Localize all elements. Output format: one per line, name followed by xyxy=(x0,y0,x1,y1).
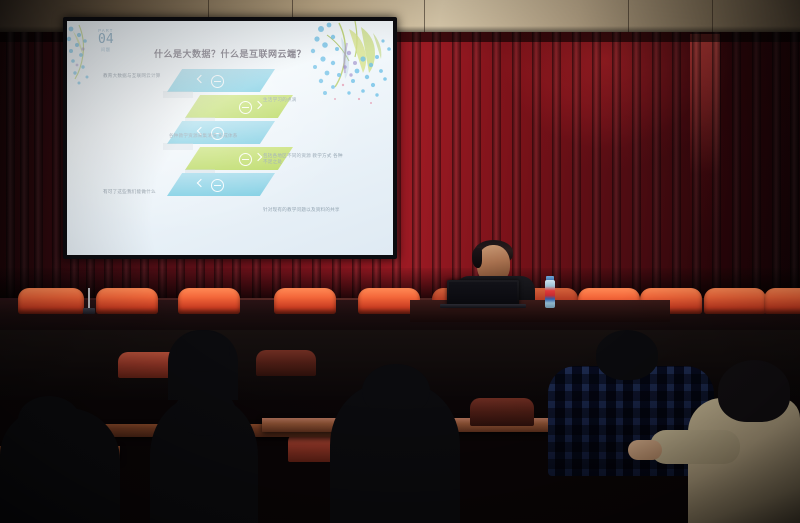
curtain-pleat xyxy=(6,32,15,300)
curtain-pleat xyxy=(412,32,421,300)
projection-screen-frame: PART 04 问题 什么是大数据？什么是互联网云端？ 教育大数据与互联网云计算… xyxy=(63,17,397,259)
water-bottle-icon xyxy=(545,280,555,308)
curtain-pleat xyxy=(672,32,681,300)
chevron-band-1 xyxy=(167,69,275,92)
curtain-pleat xyxy=(632,32,641,300)
part-number: 04 xyxy=(98,33,114,46)
curtain-pleat xyxy=(52,32,61,300)
slide-label-left-2: 各种教学资源采集清洗 形成体系 xyxy=(169,133,238,139)
curtain-pleat xyxy=(552,32,561,300)
curtain-pleat xyxy=(712,32,721,300)
curtain-pleat xyxy=(572,32,581,300)
curtain-pleat xyxy=(512,32,521,300)
curtain-pleat xyxy=(692,32,701,300)
audience-seat xyxy=(256,350,316,376)
stage-seat xyxy=(274,288,336,314)
gear-icon xyxy=(239,153,252,166)
lecture-hall-photo: PART 04 问题 什么是大数据？什么是互联网云端？ 教育大数据与互联网云计算… xyxy=(0,0,800,523)
microphone-icon xyxy=(88,288,90,310)
slide-label-left-1: 教育大数据与互联网云计算 xyxy=(103,73,161,79)
chevron-band-5 xyxy=(167,173,275,196)
audience-arm xyxy=(650,430,740,464)
curtain-pleat xyxy=(20,32,29,300)
curtain-pleat xyxy=(732,32,741,300)
slide-label-right-3: 针对现有的教学问题以及资料的共享 xyxy=(263,207,340,213)
curtain-pleat xyxy=(452,32,461,300)
chevron-right-icon xyxy=(255,101,260,111)
slide-label-right-2: 包括各地区不同的资源 教学方式 各种不足之处 xyxy=(263,153,347,166)
monitor-icon xyxy=(239,101,252,114)
cloud-icon xyxy=(211,75,224,88)
chevron-left-icon xyxy=(197,179,202,189)
audience-head xyxy=(18,396,80,444)
projection-screen: PART 04 问题 什么是大数据？什么是互联网云端？ 教育大数据与互联网云计算… xyxy=(67,21,393,255)
audience-head xyxy=(362,364,430,418)
stage-seat xyxy=(764,288,800,314)
audience-head xyxy=(176,330,230,372)
audience-head xyxy=(596,330,658,380)
curtain-pleat xyxy=(652,32,661,300)
microphone-base xyxy=(83,308,95,314)
curtain-pleat xyxy=(772,32,781,300)
curtain-pleat xyxy=(790,32,799,300)
stage-seat xyxy=(96,288,158,314)
curtain-pleat xyxy=(592,32,601,300)
curtain-pleat xyxy=(612,32,621,300)
stage-seat xyxy=(704,288,766,314)
curtain-pleat xyxy=(432,32,441,300)
slide-label-left-3: 有可了这些我们能做什么 xyxy=(103,189,156,195)
chevron-left-icon xyxy=(197,75,202,85)
curtain-pleat xyxy=(532,32,541,300)
laptop-icon xyxy=(447,280,519,306)
slide-label-right-1: 生活学习的点滴 xyxy=(263,97,297,103)
laptop-screen xyxy=(449,282,517,303)
chevron-right-icon xyxy=(255,153,260,163)
audience-hand xyxy=(628,440,662,460)
pen-icon xyxy=(211,179,224,192)
curtain-pleat xyxy=(752,32,761,300)
slide-title: 什么是大数据？什么是互联网云端？ xyxy=(67,47,393,60)
presenter-hair-side xyxy=(472,248,482,268)
audience-seat xyxy=(470,398,534,426)
curtain-pleat xyxy=(34,32,43,300)
stage-seat xyxy=(178,288,240,314)
audience-head xyxy=(718,360,790,422)
laptop-base xyxy=(440,304,526,308)
stage-seat xyxy=(18,288,84,314)
